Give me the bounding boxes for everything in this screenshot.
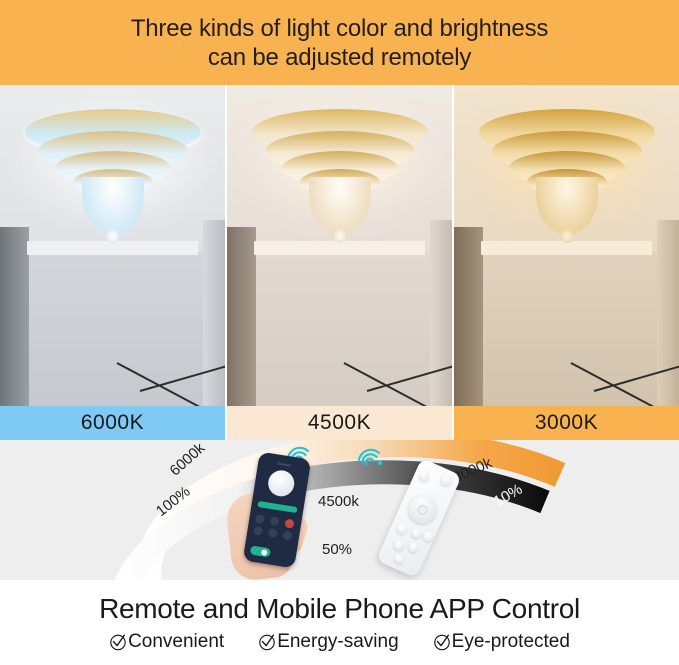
remote-illustration [383,462,473,580]
feature-label: Energy-saving [277,631,398,653]
remote-control[interactable] [376,458,462,578]
mobile-phone-app[interactable]: Dimmer [243,452,312,569]
wifi-icon-remote [355,444,385,466]
headline-line-1: Three kinds of light color and brightnes… [131,14,548,43]
wifi-dot [378,461,382,465]
temp-label-text: 3000K [535,411,598,435]
room-scene-cool [0,85,225,440]
crystal-chandelier-cool [24,103,202,233]
photo-cell-4500k: 4500K [227,85,452,440]
feature-energy-saving: Energy-saving [258,631,398,653]
light-color-comparison-row: 6000K 4500K [0,85,679,440]
photo-cell-6000k: 6000K [0,85,225,440]
remote-button-off[interactable] [418,470,431,483]
arc-label-50-percent: 50% [322,541,352,558]
remote-button-extra[interactable] [393,553,405,565]
arc-graphics [0,440,679,580]
remote-button-night[interactable] [407,541,420,554]
check-circle-icon [109,633,127,651]
keypad-button-power[interactable] [284,518,294,528]
temp-label-4500k: 4500K [227,406,452,440]
brightness-slider[interactable] [257,501,297,513]
remote-button-scene-1[interactable] [395,522,408,535]
keypad-button[interactable] [268,528,278,538]
remote-button-scene-3[interactable] [422,530,435,543]
feature-list: Convenient Energy-saving Eye-protected [109,631,570,653]
remote-button-scene-2[interactable] [410,527,423,540]
remote-button-on[interactable] [439,473,454,488]
room-scene-neutral [227,85,452,440]
feature-eye-protected: Eye-protected [433,631,570,653]
temp-label-text: 6000K [81,411,144,435]
remote-dial[interactable] [404,491,441,528]
room-scene-warm [454,85,679,440]
footer-section: Remote and Mobile Phone APP Control Conv… [0,580,679,665]
arc-label-4500k: 4500k [318,493,359,510]
soffit-edge [254,241,425,255]
headline-line-2: can be adjusted remotely [208,43,471,72]
footer-title: Remote and Mobile Phone APP Control [99,593,580,625]
soffit-edge [481,241,652,255]
control-diagram: 6000k 4500k 3000k 100% 50% 10% [0,440,679,580]
keypad-button[interactable] [282,530,292,540]
app-keypad[interactable] [252,514,296,548]
temp-label-text: 4500K [308,411,371,435]
feature-convenient: Convenient [109,631,224,653]
temp-label-3000k: 3000K [454,406,679,440]
crystal-tip [107,229,119,243]
remote-button-timer[interactable] [393,539,406,552]
check-circle-icon [258,633,276,651]
app-title: Dimmer [258,459,310,471]
photo-cell-3000k: 3000K [454,85,679,440]
check-circle-icon [433,633,451,651]
soffit-edge [27,241,198,255]
keypad-button[interactable] [253,526,263,536]
keypad-button[interactable] [255,514,265,524]
headline-banner: Three kinds of light color and brightnes… [0,0,679,85]
crystal-tip [561,229,573,243]
power-toggle[interactable] [250,545,271,557]
phone-illustration: Dimmer [243,455,313,580]
feature-label: Eye-protected [452,631,570,653]
crystal-tip [334,229,346,243]
temp-label-6000k: 6000K [0,406,225,440]
keypad-button[interactable] [270,516,280,526]
brightness-dial[interactable] [266,468,296,498]
crystal-chandelier-neutral [251,103,429,233]
feature-label: Convenient [128,631,224,653]
crystal-chandelier-warm [478,103,656,233]
